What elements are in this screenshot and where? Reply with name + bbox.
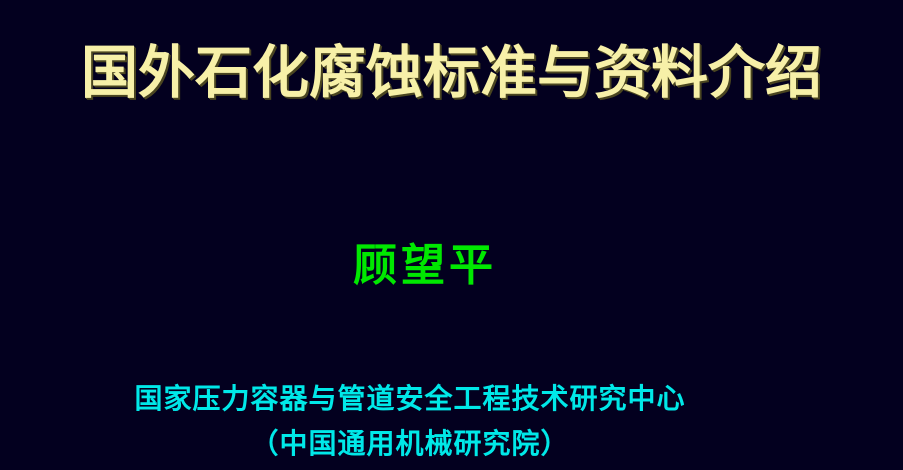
page-title: 国外石化腐蚀标准与资料介绍: [60, 42, 843, 105]
presentation-slide: 国外石化腐蚀标准与资料介绍 顾望平 国家压力容器与管道安全工程技术研究中心 （中…: [0, 0, 903, 470]
affiliation-line-secondary: （中国通用机械研究院）: [0, 421, 820, 466]
affiliation-block: 国家压力容器与管道安全工程技术研究中心 （中国通用机械研究院）: [0, 376, 820, 466]
author-name: 顾望平: [0, 240, 850, 292]
author-block: 顾望平: [0, 240, 850, 292]
affiliation-line-primary: 国家压力容器与管道安全工程技术研究中心: [0, 376, 820, 421]
title-block: 国外石化腐蚀标准与资料介绍: [60, 42, 843, 105]
